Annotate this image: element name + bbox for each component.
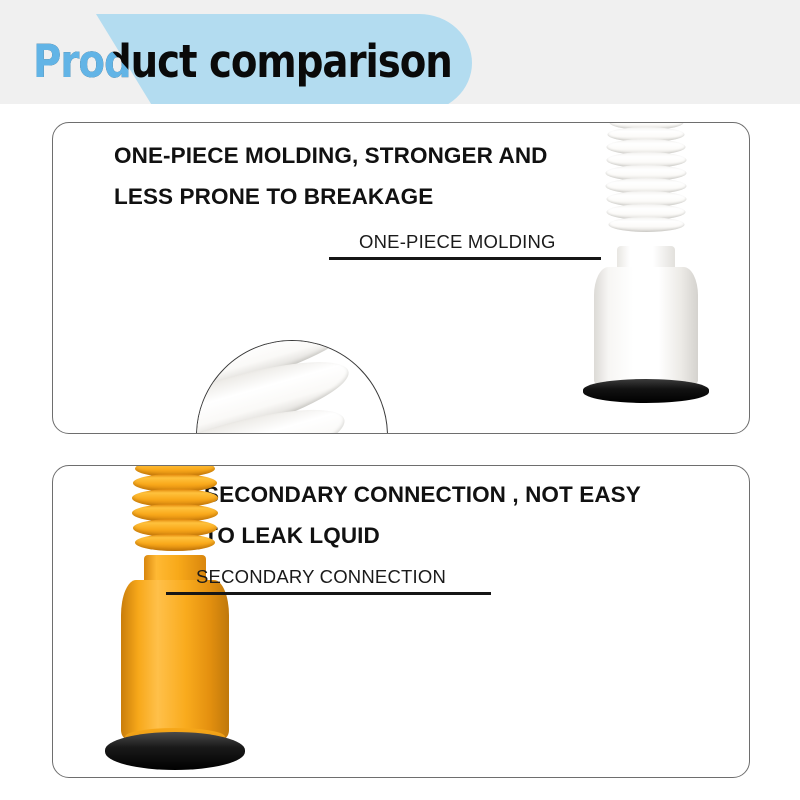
white-nozzle-body [594,267,698,385]
orange-nozzle-bellows [132,465,218,548]
page-title: Product comparison Product comparison [33,36,633,90]
magnifier-one-content [197,341,387,434]
callout-one-rule [329,257,601,260]
comparison-panel-two: SECONDARY CONNECTION , NOT EASY TO LEAK … [52,465,750,778]
orange-nozzle-body [121,580,229,740]
magnifier-circle-one [196,340,388,434]
header-divider [0,104,800,112]
rib [608,217,684,232]
panel-one-heading: ONE-PIECE MOLDING, STRONGER AND LESS PRO… [114,135,548,217]
white-nozzle-product [541,122,750,427]
comparison-panel-one: ONE-PIECE MOLDING, STRONGER AND LESS PRO… [52,122,750,434]
callout-two-label: SECONDARY CONNECTION [166,566,491,588]
rib [135,534,215,551]
white-nozzle-bellows [606,122,687,229]
callout-one: ONE-PIECE MOLDING [329,231,601,260]
white-nozzle-base [583,379,709,403]
orange-nozzle-product [75,465,275,778]
callout-one-label: ONE-PIECE MOLDING [329,231,601,253]
orange-nozzle-base [105,732,245,770]
callout-two: SECONDARY CONNECTION [166,566,491,595]
header-banner: Product comparison Product comparison [0,0,800,112]
callout-two-rule [166,592,491,595]
